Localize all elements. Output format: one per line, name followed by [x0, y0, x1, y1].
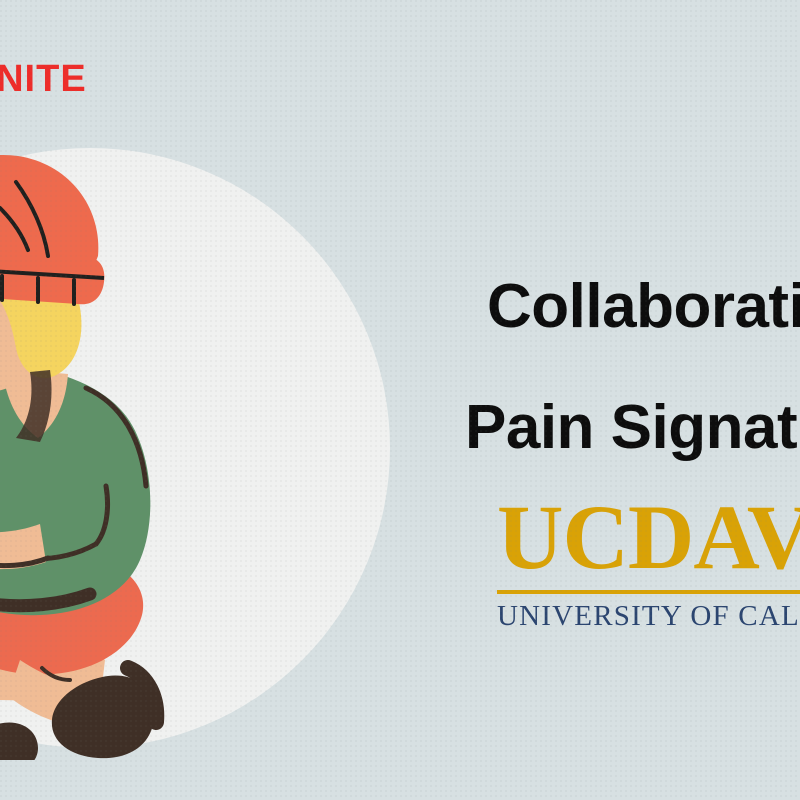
shoe-back-shape: [0, 722, 38, 760]
ucdavis-wordmark: UCDAVIS: [497, 492, 800, 582]
ucdavis-tagline: UNIVERSITY OF CALIFORNIA: [497, 600, 800, 633]
seated-woman-in-pain-illustration: [0, 120, 220, 760]
slide-headline: Collaborative Pain Signature: [487, 247, 800, 489]
ignite-logo-wordmark[interactable]: IGNITE: [0, 60, 87, 98]
ucdavis-gold-rule: [497, 590, 800, 594]
slide-canvas: IGNITE Collaborative Pain Signature UCDA…: [0, 0, 800, 800]
ucdavis-logo-lockup: UCDAVIS UNIVERSITY OF CALIFORNIA: [497, 492, 800, 633]
headline-line-1: Collaborative: [487, 247, 800, 368]
headline-line-2: Pain Signature: [465, 368, 800, 489]
illustration-svg: [0, 120, 220, 760]
